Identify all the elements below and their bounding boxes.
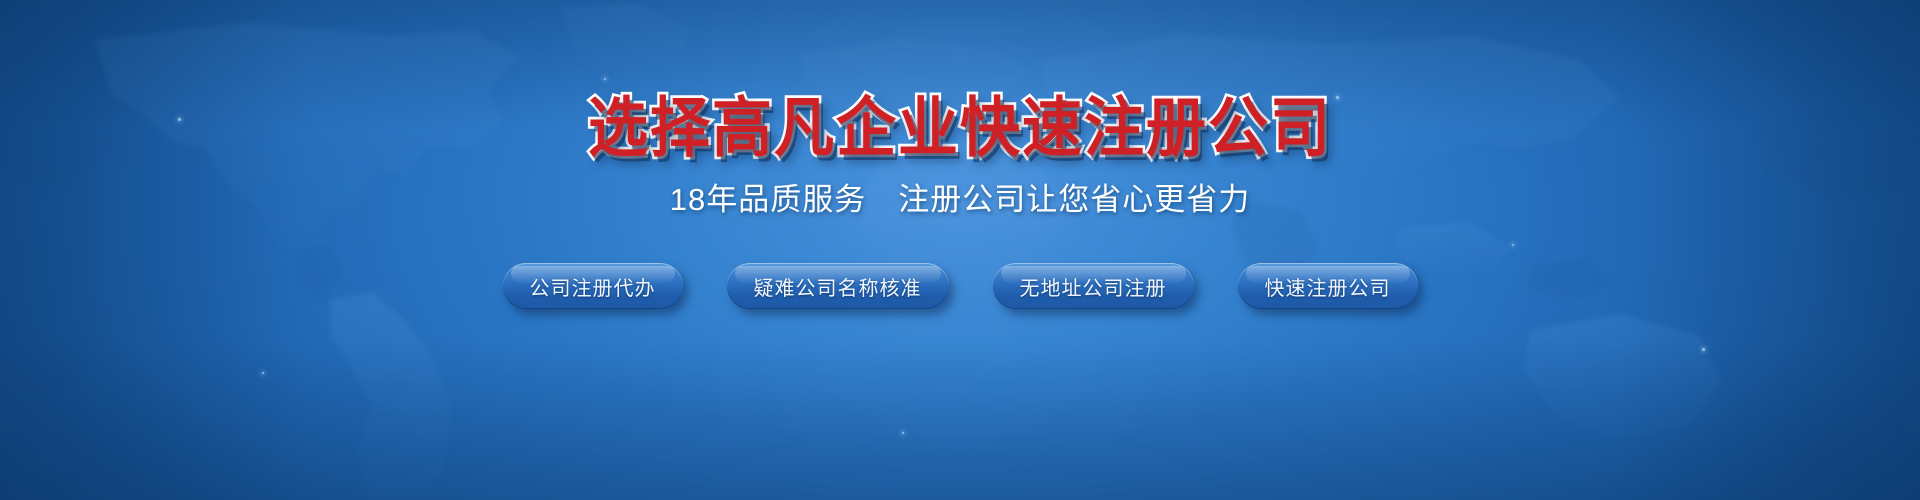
tag-button-difficult-name-approval[interactable]: 疑难公司名称核准	[727, 263, 949, 309]
page-title: 选择高凡企业快速注册公司	[588, 96, 1332, 161]
tag-button-fast-registration[interactable]: 快速注册公司	[1238, 263, 1418, 309]
banner-content: 选择高凡企业快速注册公司 18年品质服务 注册公司让您省心更省力 公司注册代办 …	[0, 0, 1920, 500]
banner-subtitle: 18年品质服务 注册公司让您省心更省力	[670, 184, 1250, 215]
promo-banner: 选择高凡企业快速注册公司 18年品质服务 注册公司让您省心更省力 公司注册代办 …	[0, 0, 1920, 500]
tag-button-company-registration-agency[interactable]: 公司注册代办	[503, 263, 683, 309]
tag-button-no-address-registration[interactable]: 无地址公司注册	[993, 263, 1194, 309]
service-tag-row: 公司注册代办 疑难公司名称核准 无地址公司注册 快速注册公司	[503, 263, 1418, 309]
